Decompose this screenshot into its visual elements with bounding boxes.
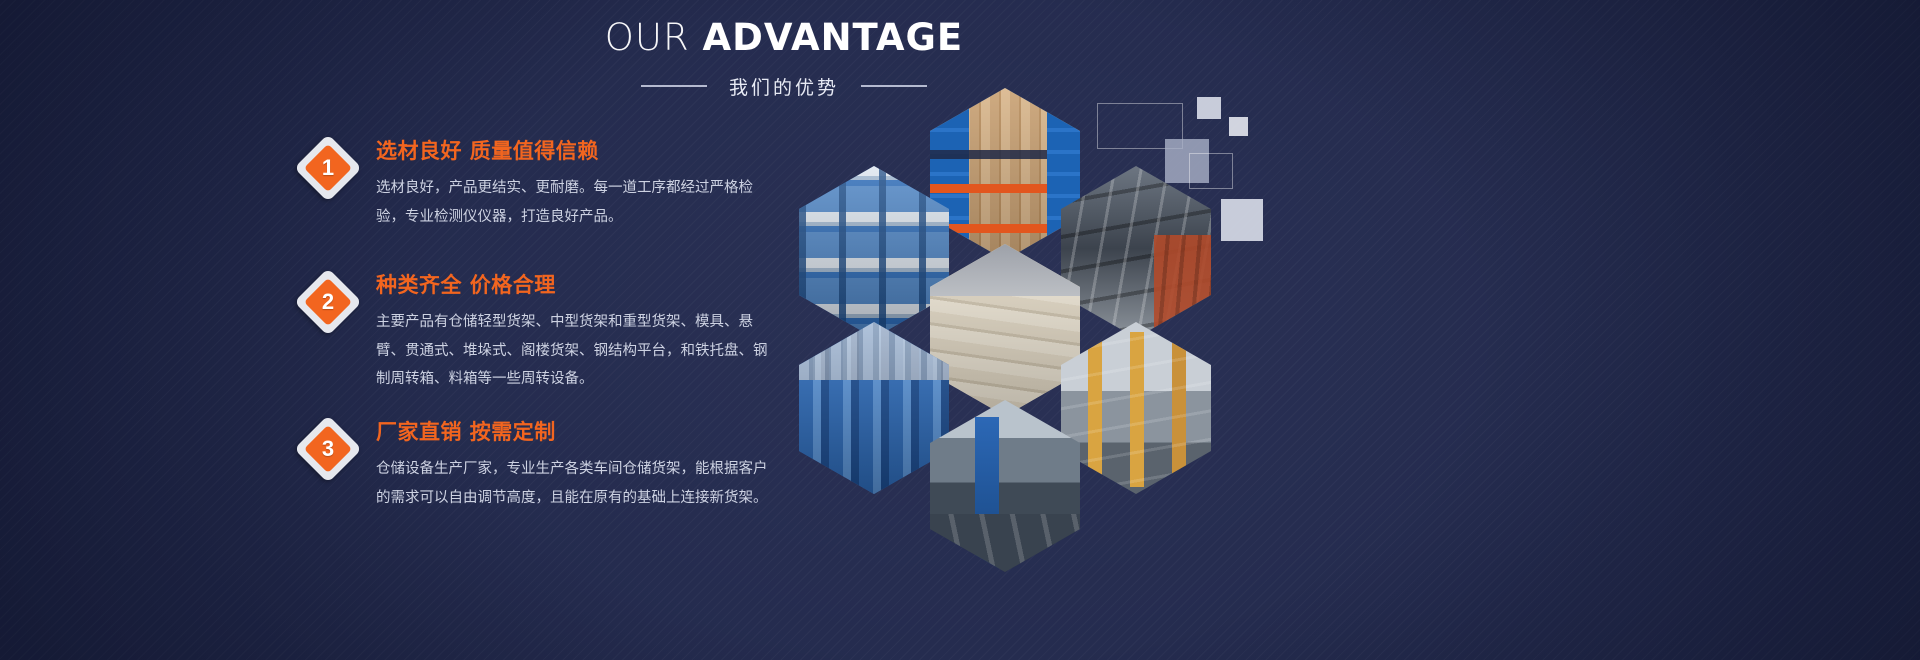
badge-number: 3 bbox=[322, 438, 334, 460]
feature-body-3: 厂家直销 按需定制 仓储设备生产厂家，专业生产各类车间仓储货架，能根据客户的需求… bbox=[376, 415, 820, 512]
photo-light-shelving bbox=[799, 166, 949, 338]
title-word-our: OUR bbox=[605, 16, 690, 59]
badge-number: 2 bbox=[322, 291, 334, 313]
hexagon-warehouse-interior-yellow-columns bbox=[1061, 322, 1211, 494]
filled-square-bottom-shape bbox=[1221, 199, 1263, 241]
feature-item-1: 1 选材良好 质量值得信赖 选材良好，产品更结实、更耐磨。每一道工序都经过严格检… bbox=[300, 134, 820, 246]
feature-body-2: 种类齐全 价格合理 主要产品有仓储轻型货架、中型货架和重型货架、模具、悬臂、贯通… bbox=[376, 268, 820, 393]
photo-pallet-racking bbox=[930, 88, 1080, 260]
photo-warehouse-yellow bbox=[1061, 322, 1211, 494]
feature-item-2: 2 种类齐全 价格合理 主要产品有仓储轻型货架、中型货架和重型货架、模具、悬臂、… bbox=[300, 268, 820, 393]
feature-title: 厂家直销 按需定制 bbox=[376, 419, 820, 445]
feature-text: 仓储设备生产厂家，专业生产各类车间仓储货架，能根据客户的需求可以自由调节高度，且… bbox=[376, 455, 776, 512]
hexagon-blue-wrapped-goods-racking bbox=[799, 322, 949, 494]
subtitle-rule-right bbox=[861, 85, 927, 87]
feature-list: 1 选材良好 质量值得信赖 选材良好，产品更结实、更耐磨。每一道工序都经过严格检… bbox=[300, 134, 820, 549]
hexagon-pallet-racking-with-cartons bbox=[930, 88, 1080, 260]
photo-factory-aisle bbox=[930, 400, 1080, 572]
subtitle-rule-left bbox=[641, 85, 707, 87]
filled-square-small-top-shape bbox=[1229, 117, 1248, 136]
feature-title: 选材良好 质量值得信赖 bbox=[376, 138, 820, 164]
number-badge-2: 2 bbox=[300, 274, 356, 330]
title-word-advantage: ADVANTAGE bbox=[702, 16, 963, 59]
hexagon-steel-structure-mezzanine bbox=[1061, 166, 1211, 338]
hexagon-gallery bbox=[795, 88, 1215, 568]
badge-number: 1 bbox=[322, 157, 334, 179]
feature-text: 选材良好，产品更结实、更耐磨。每一道工序都经过严格检验，专业检测仪仪器，打造良好… bbox=[376, 174, 776, 231]
subtitle-row: 我们的优势 bbox=[0, 73, 1568, 100]
section-header: OUR ADVANTAGE 我们的优势 bbox=[0, 18, 1568, 100]
feature-item-3: 3 厂家直销 按需定制 仓储设备生产厂家，专业生产各类车间仓储货架，能根据客户的… bbox=[300, 415, 820, 527]
photo-steel-structure bbox=[1061, 166, 1211, 338]
page-title: OUR ADVANTAGE bbox=[0, 18, 1568, 59]
hexagon-light-duty-blue-shelving bbox=[799, 166, 949, 338]
photo-mezzanine-deck bbox=[930, 244, 1080, 416]
feature-body-1: 选材良好 质量值得信赖 选材良好，产品更结实、更耐磨。每一道工序都经过严格检验，… bbox=[376, 134, 820, 231]
page-subtitle: 我们的优势 bbox=[729, 73, 839, 100]
hexagon-corrugated-mezzanine-deck bbox=[930, 244, 1080, 416]
photo-wrapped-goods bbox=[799, 322, 949, 494]
feature-title: 种类齐全 价格合理 bbox=[376, 272, 820, 298]
feature-text: 主要产品有仓储轻型货架、中型货架和重型货架、模具、悬臂、贯通式、堆垛式、阁楼货架… bbox=[376, 308, 776, 393]
number-badge-3: 3 bbox=[300, 421, 356, 477]
hexagon-factory-floor-aisle bbox=[930, 400, 1080, 572]
number-badge-1: 1 bbox=[300, 140, 356, 196]
